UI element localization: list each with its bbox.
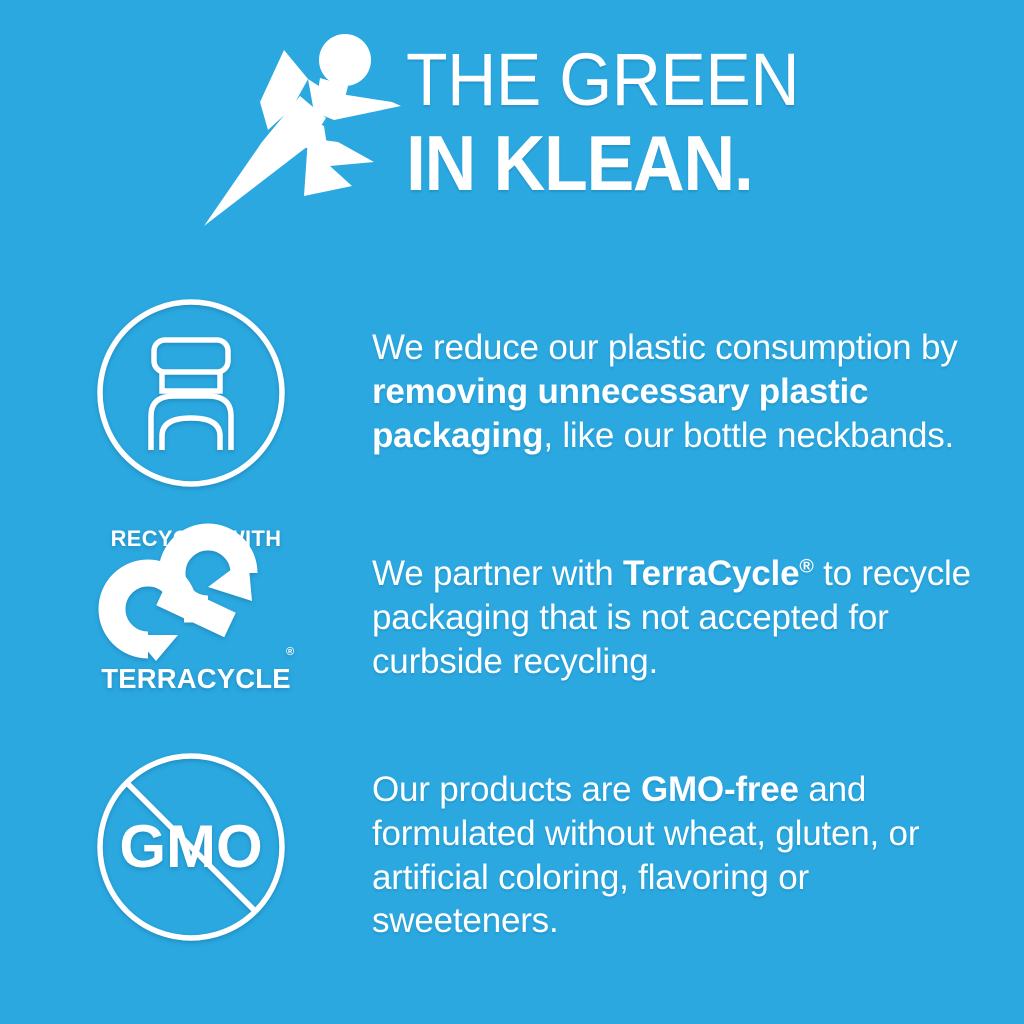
running-person-icon: [196, 34, 411, 234]
text-cell: Our products are GMO-free and formulated…: [372, 752, 1024, 943]
header-banner: THE GREEN IN KLEAN.: [0, 0, 1024, 268]
text-segment: We reduce our plastic consumption by: [372, 328, 958, 367]
terracycle-recycle-logo: RECYCLE WITH: [96, 528, 296, 693]
wordmark-line-1: THE GREEN: [406, 44, 958, 117]
icon-cell: [0, 298, 372, 488]
wordmark-line-2: IN KLEAN.: [406, 125, 958, 201]
feature-text-gmo: Our products are GMO-free and formulated…: [372, 768, 1004, 943]
feature-text-plastic: We reduce our plastic consumption by rem…: [372, 326, 1004, 457]
text-segment: We partner with: [372, 554, 623, 593]
feature-text-terracycle: We partner with TerraCycle® to recycle p…: [372, 552, 1004, 683]
icon-cell: GMO: [0, 752, 372, 942]
terracycle-bottom-label: TERRACYCLE: [98, 665, 294, 693]
feature-row-terracycle: RECYCLE WITH: [0, 528, 1024, 718]
text-segment-bold: TerraCycle: [623, 554, 799, 593]
registered-mark: ®: [799, 555, 813, 577]
feature-row-plastic: We reduce our plastic consumption by rem…: [0, 298, 1024, 498]
icon-cell: RECYCLE WITH: [0, 528, 372, 693]
text-segment: , like our bottle neckbands.: [543, 416, 954, 455]
text-cell: We partner with TerraCycle® to recycle p…: [372, 528, 1024, 683]
text-segment-bold: GMO-free: [641, 770, 799, 809]
text-cell: We reduce our plastic consumption by rem…: [372, 298, 1024, 457]
gmo-label: GMO: [119, 813, 262, 880]
brand-wordmark: THE GREEN IN KLEAN.: [406, 44, 1006, 201]
text-segment: Our products are: [372, 770, 641, 809]
no-gmo-circle-icon: GMO: [96, 752, 286, 942]
bottle-neckband-circle-icon: [96, 298, 286, 488]
feature-row-gmo: GMO Our products are GMO-free and formul…: [0, 752, 1024, 967]
registered-mark: ®: [286, 646, 294, 658]
infinity-recycle-arrows-icon: ®: [96, 557, 296, 661]
